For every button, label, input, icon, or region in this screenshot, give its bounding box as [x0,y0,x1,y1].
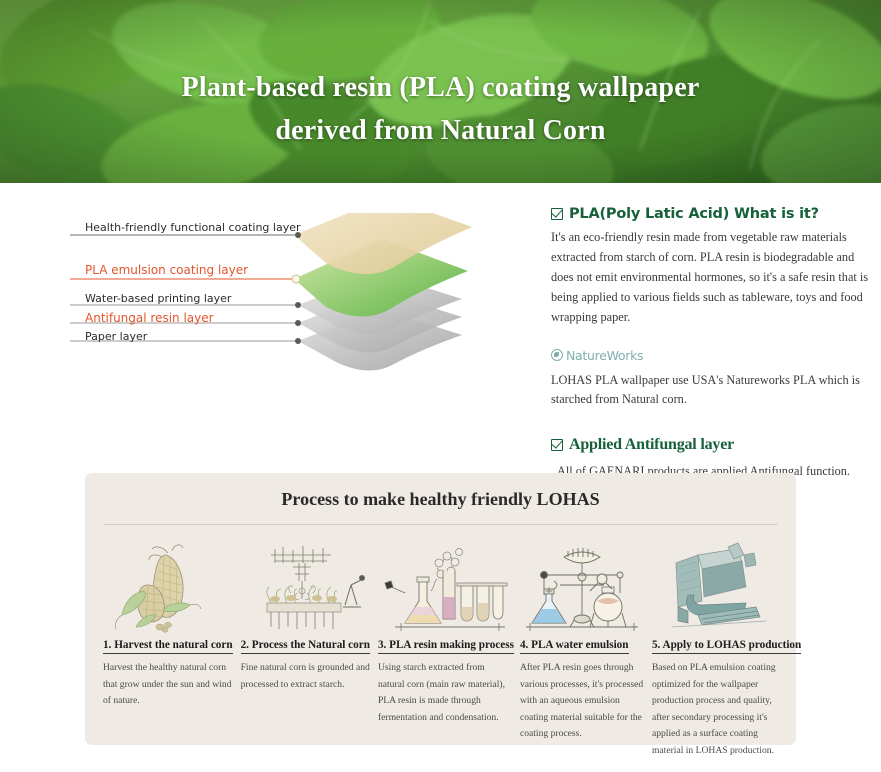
process-step-4-body: After PLA resin goes through various pro… [520,660,644,743]
checkbox-check-icon [551,439,563,451]
layer-label-water-printing: Water-based printing layer [85,292,231,305]
pla-heading-text: PLA(Poly Latic Acid) What is it? [569,206,819,222]
process-step-1-title: 1. Harvest the natural corn [103,639,233,654]
antifungal-heading-text: Applied Antifungal layer [569,436,734,454]
process-step-2-title: 2. Process the Natural corn [241,639,370,654]
hero-banner: Plant-based resin (PLA) coating wallpape… [0,0,881,183]
process-panel: Process to make healthy friendly LOHAS [85,473,796,745]
process-step-1-body: Harvest the healthy natural corn that gr… [103,660,233,710]
layer-label-functional-coating: Health-friendly functional coating layer [85,221,301,234]
process-step-2: 2. Process the Natural corn Fine natural… [237,537,374,759]
process-step-3-title: 3. PLA resin making process [378,639,514,654]
distillation-illustration-icon [520,537,644,633]
process-step-5-body: Based on PLA emulsion coating optimized … [652,660,786,759]
process-step-1: 1. Harvest the natural corn Harvest the … [99,537,237,759]
antifungal-heading: Applied Antifungal layer [551,436,873,454]
pla-heading: PLA(Poly Latic Acid) What is it? [551,206,873,222]
pla-description: It's an eco-friendly resin made from veg… [551,228,873,328]
process-panel-title: Process to make healthy friendly LOHAS [85,473,796,510]
process-steps-list: 1. Harvest the natural corn Harvest the … [85,525,796,759]
process-step-5-title: 5. Apply to LOHAS production [652,639,801,654]
diagram-leader-lines [70,232,301,344]
layer-label-antifungal: Antifungal resin layer [85,311,214,325]
natureworks-logo: NatureWorks [551,348,873,363]
natureworks-leaf-icon [551,349,563,361]
process-step-4-title: 4. PLA water emulsion [520,639,629,654]
checkbox-check-icon [551,208,563,220]
corn-illustration-icon [103,537,233,633]
factory-machine-illustration-icon [652,537,786,633]
process-step-5: 5. Apply to LOHAS production Based on PL… [648,537,790,759]
process-step-4: 4. PLA water emulsion After PLA resin go… [516,537,648,759]
harvester-illustration-icon [241,537,370,633]
info-column: PLA(Poly Latic Acid) What is it? It's an… [551,206,873,479]
layer-label-pla-emulsion: PLA emulsion coating layer [85,263,248,277]
page-title: Plant-based resin (PLA) coating wallpape… [0,66,881,153]
layer-diagram: Health-friendly functional coating layer… [70,213,540,413]
process-step-3-body: Using starch extracted from natural corn… [378,660,512,726]
natureworks-note: LOHAS PLA wallpaper use USA's Naturework… [551,371,873,411]
process-step-2-body: Fine natural corn is grounded and proces… [241,660,370,693]
natureworks-logo-text: NatureWorks [566,348,643,363]
lab-flask-illustration-icon [378,537,512,633]
product-structure-section: Health-friendly functional coating layer… [0,183,881,473]
process-step-3: 3. PLA resin making process Using starch… [374,537,516,759]
layer-label-paper: Paper layer [85,330,147,343]
